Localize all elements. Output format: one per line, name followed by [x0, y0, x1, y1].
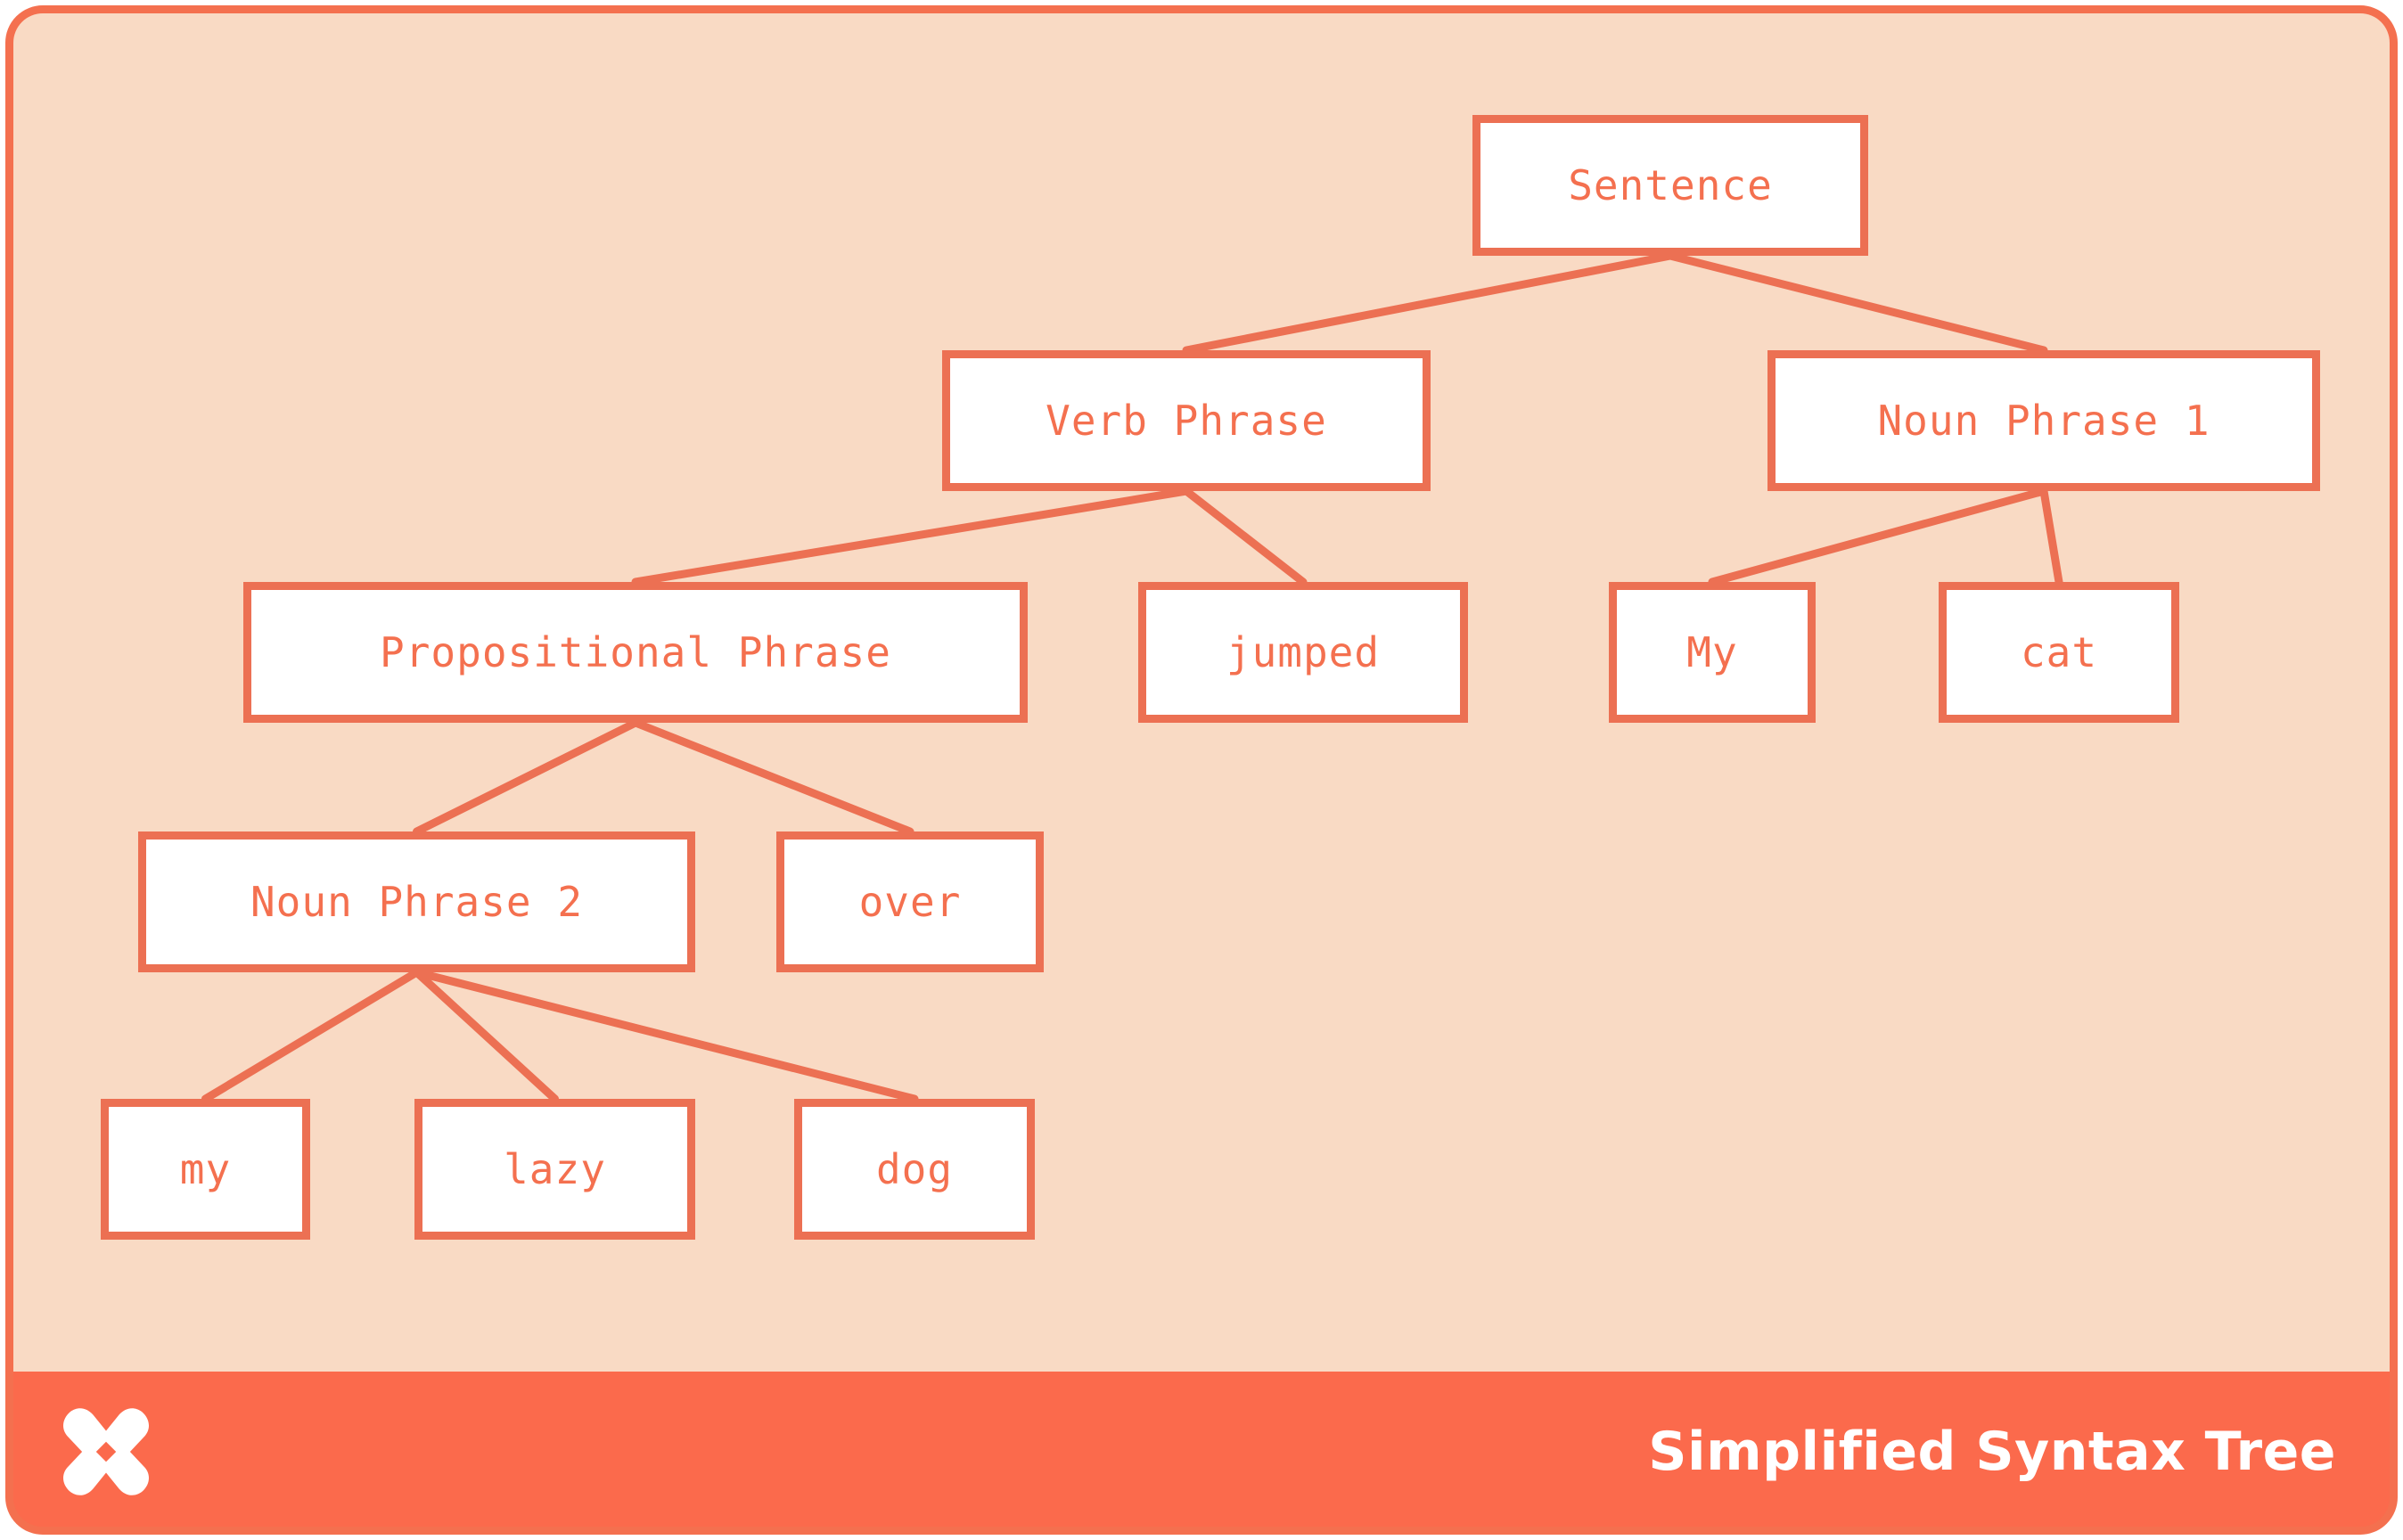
diagram-stage: SentenceVerb PhraseNoun Phrase 1Proposit…	[13, 13, 2390, 1372]
tree-node-label: Noun Phrase 2	[250, 878, 583, 926]
tree-node-noun-phrase-1[interactable]: Noun Phrase 1	[1767, 350, 2320, 491]
tree-node-noun-phrase-2[interactable]: Noun Phrase 2	[138, 831, 695, 972]
tree-node-label: Propositional Phrase	[380, 628, 891, 676]
tree-edge-verb-phrase-to-propositional-phrase	[636, 491, 1186, 582]
tree-edge-propositional-phrase-to-noun-phrase-2	[417, 723, 636, 831]
tree-edge-sentence-to-noun-phrase-1	[1670, 256, 2044, 350]
tree-node-label: lazy	[504, 1145, 606, 1193]
tree-node-label: cat	[2021, 628, 2097, 676]
tree-node-verb-phrase[interactable]: Verb Phrase	[942, 350, 1431, 491]
tree-node-dog[interactable]: dog	[794, 1099, 1035, 1240]
tree-node-label: dog	[876, 1145, 953, 1193]
tree-node-label: Noun Phrase 1	[1877, 397, 2210, 445]
tree-node-cat[interactable]: cat	[1939, 582, 2179, 723]
tree-edge-noun-phrase-2-to-my	[206, 972, 417, 1099]
tree-node-label: jumped	[1226, 628, 1380, 676]
tree-node-sentence[interactable]: Sentence	[1472, 115, 1868, 256]
tree-node-my-cap[interactable]: My	[1609, 582, 1816, 723]
tree-node-jumped[interactable]: jumped	[1138, 582, 1468, 723]
tree-node-my[interactable]: my	[101, 1099, 310, 1240]
tree-edge-noun-phrase-1-to-my-cap	[1712, 491, 2044, 582]
tree-edge-propositional-phrase-to-over	[636, 723, 910, 831]
tree-node-over[interactable]: over	[776, 831, 1044, 972]
tree-edge-verb-phrase-to-jumped	[1186, 491, 1303, 582]
tree-edge-sentence-to-verb-phrase	[1186, 256, 1670, 350]
tree-node-lazy[interactable]: lazy	[414, 1099, 695, 1240]
footer-bar: Simplified Syntax Tree	[13, 1372, 2390, 1532]
tree-node-label: Verb Phrase	[1046, 397, 1327, 445]
syntax-tree-card: SentenceVerb PhraseNoun Phrase 1Proposit…	[5, 5, 2398, 1535]
tree-node-label: my	[180, 1145, 231, 1193]
butterfly-x-logo-icon	[56, 1402, 156, 1502]
tree-node-propositional-phrase[interactable]: Propositional Phrase	[243, 582, 1028, 723]
footer-title: Simplified Syntax Tree	[1648, 1421, 2336, 1483]
screenshot-canvas: SentenceVerb PhraseNoun Phrase 1Proposit…	[0, 0, 2403, 1540]
tree-node-label: My	[1686, 628, 1737, 676]
tree-node-label: Sentence	[1568, 161, 1773, 209]
tree-edge-noun-phrase-1-to-cat	[2044, 491, 2059, 582]
tree-node-label: over	[859, 878, 962, 926]
